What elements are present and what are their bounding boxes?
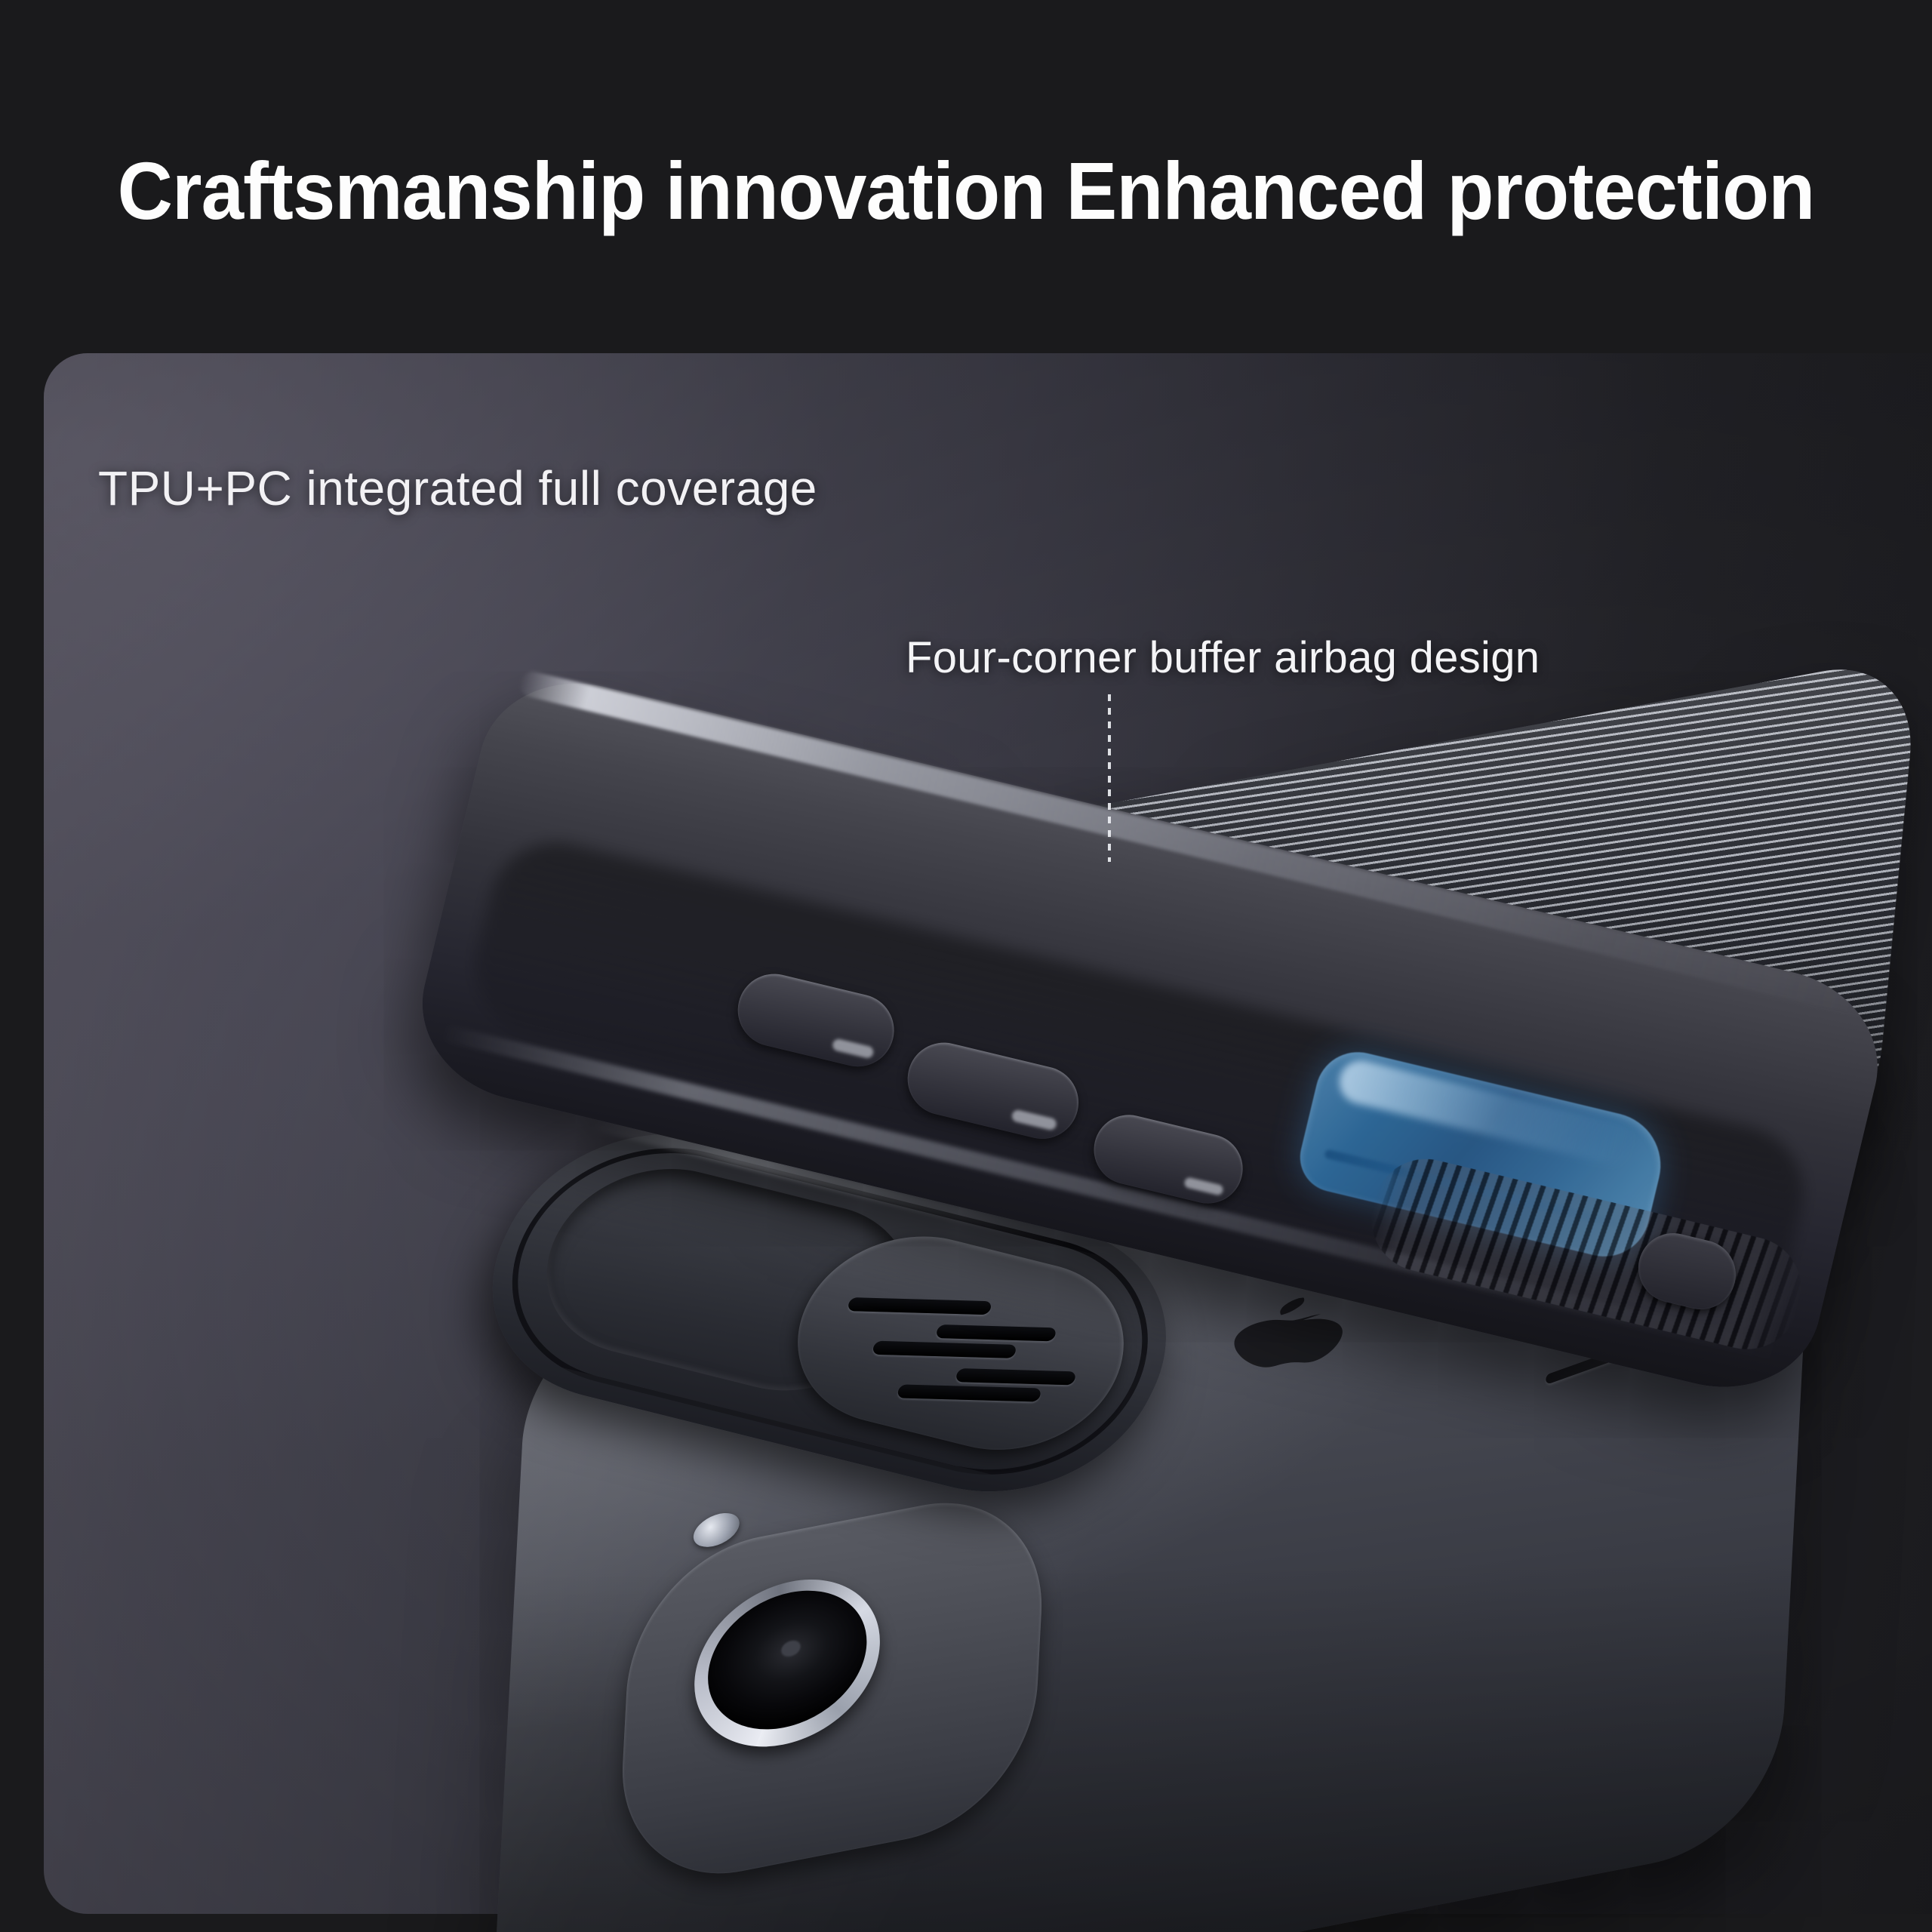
grip-ridge — [935, 1324, 1057, 1341]
callout-leader-line — [1108, 694, 1111, 862]
callout-label: Four-corner buffer airbag design — [906, 632, 1540, 683]
grip-ridge — [897, 1384, 1041, 1401]
grip-ridge — [872, 1341, 1017, 1358]
product-feature-image: Craftsmanship innovation Enhanced protec… — [0, 0, 1932, 1932]
product-illustration — [0, 0, 1932, 1932]
lens-reflection — [781, 1638, 801, 1658]
grip-ridge — [955, 1368, 1076, 1385]
grip-ridge — [847, 1297, 992, 1315]
